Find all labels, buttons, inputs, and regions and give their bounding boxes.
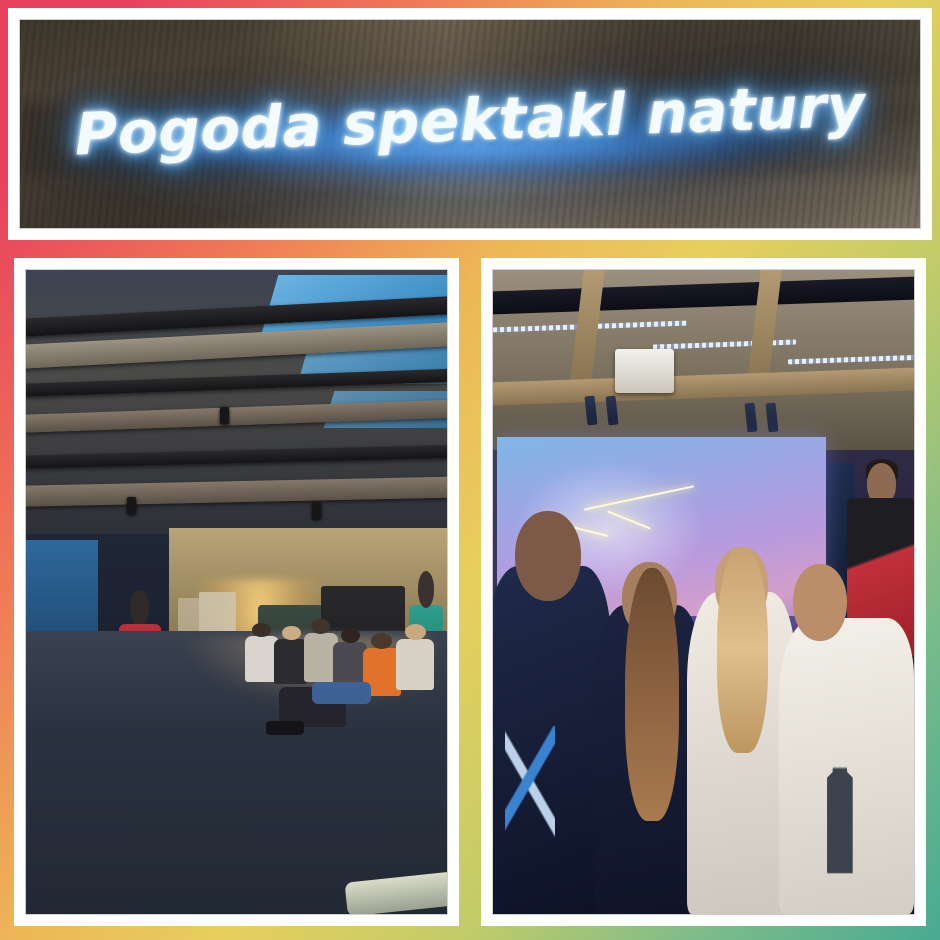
hall-floor	[26, 631, 447, 914]
student-shoe	[266, 721, 304, 735]
photo-collage: Pogoda spektakl natury	[0, 0, 940, 940]
ceiling-spotlight-3	[312, 502, 321, 519]
student-head	[793, 564, 847, 641]
floor-cushion	[344, 872, 448, 915]
mount-bracket-3	[744, 403, 757, 433]
student-head	[405, 624, 426, 640]
photo-projection-lecture: …ała optyczne, takie jak tęcza, gloria, …	[492, 269, 915, 915]
photo-frame-bottom-right[interactable]: …ała optyczne, takie jak tęcza, gloria, …	[481, 258, 926, 926]
photo-frame-bottom-left[interactable]	[14, 258, 459, 926]
seated-student	[274, 639, 308, 684]
hoodie-graphic	[505, 726, 556, 844]
student-head	[311, 619, 330, 634]
roof-structure	[26, 270, 447, 534]
ceiling-projector	[615, 349, 674, 392]
ceiling-spotlight-1	[220, 407, 229, 424]
photo-exhibition-sign: Pogoda spektakl natury	[19, 19, 921, 229]
student-head	[341, 628, 360, 643]
steel-beam-3	[26, 444, 447, 469]
led-strip-2	[653, 340, 796, 350]
wood-beam-3	[26, 476, 447, 507]
teacher-head	[418, 571, 435, 608]
guide-head	[130, 590, 149, 626]
photo-museum-hall	[25, 269, 448, 915]
student-head	[371, 633, 392, 648]
hoodie-tower-graphic	[817, 742, 863, 878]
student-long-hair	[625, 568, 680, 821]
photo-frame-top[interactable]: Pogoda spektakl natury	[8, 8, 932, 240]
lightning-bolt-branch-3	[607, 510, 650, 529]
ceiling-spotlight-2	[127, 497, 136, 514]
wood-beam-horizontal	[493, 367, 914, 406]
wood-beam-2	[26, 399, 447, 434]
student-head	[282, 626, 301, 641]
lightning-bolt-main	[584, 485, 694, 510]
ceiling-rail-1	[493, 277, 914, 316]
student-blonde-hair	[717, 547, 767, 753]
mount-bracket-4	[765, 403, 778, 433]
student-head	[252, 623, 271, 638]
ceiling-structure	[493, 270, 914, 450]
led-strip-3	[788, 354, 914, 364]
seated-student	[396, 639, 434, 690]
student-white-hoodie-right	[779, 618, 914, 914]
student-head	[515, 511, 581, 601]
seated-student	[333, 642, 367, 687]
student-jeans	[312, 682, 371, 705]
